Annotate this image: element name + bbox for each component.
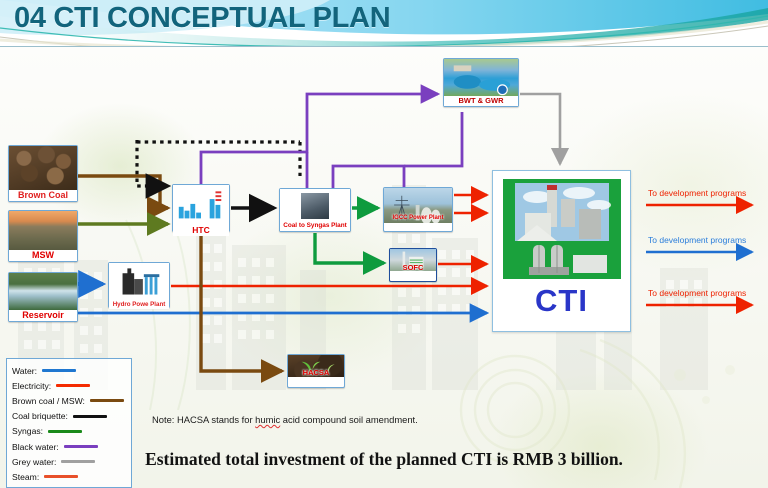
legend-swatch-electricity xyxy=(56,384,90,387)
reservoir-dam-photo xyxy=(9,273,77,310)
node-label: Brown Coal xyxy=(9,190,77,201)
node-hacsa[interactable]: HACSA xyxy=(287,354,345,388)
node-cti[interactable]: CTI xyxy=(492,170,631,332)
legend-swatch-brown-coal-msw xyxy=(90,399,124,402)
legend-label: Electricity: xyxy=(12,381,51,391)
cti-industrial-plant-photo xyxy=(503,179,621,279)
slide-header: 04 CTI CONCEPTUAL PLAN xyxy=(0,0,768,47)
note-text: Note: HACSA stands for humic acid compou… xyxy=(152,414,418,425)
node-sofc[interactable]: SOFC xyxy=(389,248,437,282)
node-label: BWT & GWR xyxy=(444,96,518,106)
node-label: Hydro Powe Plant xyxy=(109,301,169,310)
legend-label: Coal briquette: xyxy=(12,411,68,421)
node-bwt[interactable]: BWT & GWR xyxy=(443,58,519,107)
node-label: Coal to Syngas Plant xyxy=(280,222,350,231)
legend-swatch-water xyxy=(42,369,76,372)
legend-label: Brown coal / MSW: xyxy=(12,396,85,406)
output-label-1: To development programs xyxy=(648,188,746,198)
water-treatment-photo xyxy=(444,59,518,96)
legend-item-coal-briquette: Coal briquette: xyxy=(12,409,126,424)
legend-label: Steam: xyxy=(12,472,39,482)
output-label-3: To development programs xyxy=(648,288,746,298)
node-label: MSW xyxy=(9,250,77,261)
page-title: 04 CTI CONCEPTUAL PLAN xyxy=(14,2,390,35)
note-suffix: acid compound soil amendment. xyxy=(280,414,418,425)
node-htc[interactable]: HTC xyxy=(172,184,230,232)
brown-coal-photo xyxy=(9,146,77,190)
syngas-plant-photo xyxy=(280,189,350,222)
note-emphasis: humic xyxy=(255,414,280,427)
output-label-2: To development programs xyxy=(648,235,746,245)
node-label: Reservoir xyxy=(9,310,77,321)
cti-label: CTI xyxy=(535,283,588,319)
note-prefix: Note: HACSA stands for xyxy=(152,414,255,425)
slide-canvas: 04 CTI CONCEPTUAL PLAN xyxy=(0,0,768,488)
node-msw[interactable]: MSW xyxy=(8,210,78,262)
legend-swatch-coal-briquette xyxy=(73,415,107,418)
node-brown-coal[interactable]: Brown Coal xyxy=(8,145,78,202)
node-label: HACSA xyxy=(288,368,344,378)
legend-swatch-black-water xyxy=(64,445,98,448)
legend-item-water: Water: xyxy=(12,363,126,378)
legend-label: Syngas: xyxy=(12,426,43,436)
investment-statement: Estimated total investment of the planne… xyxy=(0,449,768,470)
header-divider xyxy=(0,46,768,47)
hydro-plant-icon xyxy=(109,263,169,301)
node-reservoir[interactable]: Reservoir xyxy=(8,272,78,322)
node-igcc[interactable]: IGCC Power Plant xyxy=(383,187,453,232)
htc-chart-icon xyxy=(173,185,229,225)
legend-swatch-syngas xyxy=(48,430,82,433)
legend-item-syngas: Syngas: xyxy=(12,424,126,439)
node-label: IGCC Power Plant xyxy=(384,214,452,222)
node-label: HTC xyxy=(173,225,229,236)
legend-item-brown-coal-msw: Brown coal / MSW: xyxy=(12,393,126,408)
node-label: SOFC xyxy=(390,263,436,273)
legend-swatch-steam xyxy=(44,475,78,478)
legend-label: Water: xyxy=(12,366,37,376)
node-hydro[interactable]: Hydro Powe Plant xyxy=(108,262,170,308)
legend-item-electricity: Electricity: xyxy=(12,378,126,393)
node-syngas[interactable]: Coal to Syngas Plant xyxy=(279,188,351,232)
municipal-waste-photo xyxy=(9,211,77,250)
legend-item-steam: Steam: xyxy=(12,469,126,484)
